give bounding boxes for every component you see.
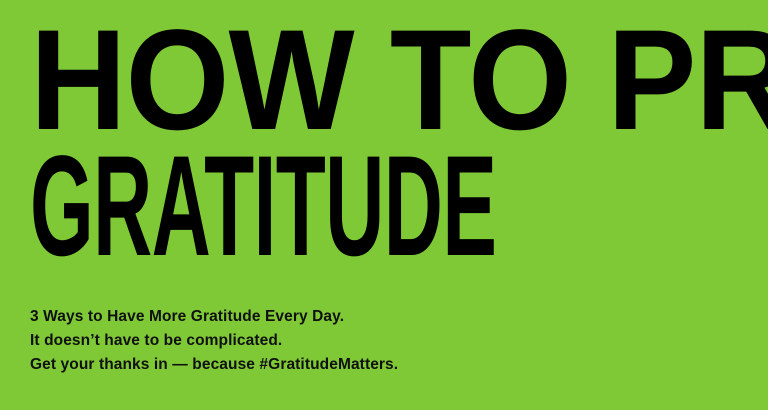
subcopy-block: 3 Ways to Have More Gratitude Every Day.…: [30, 305, 730, 377]
subcopy-line-1: 3 Ways to Have More Gratitude Every Day.: [30, 305, 730, 329]
headline-line-1: HOW TO PRACTICE: [30, 18, 712, 144]
subcopy-line-3: Get your thanks in — because #GratitudeM…: [30, 353, 730, 377]
poster-canvas: HOW TO PRACTICE GRATITUDE 3 Ways to Have…: [0, 0, 768, 410]
headline-line-2: GRATITUDE: [30, 144, 448, 270]
subcopy-line-2: It doesn’t have to be complicated.: [30, 329, 730, 353]
headline-block: HOW TO PRACTICE GRATITUDE: [30, 18, 760, 270]
